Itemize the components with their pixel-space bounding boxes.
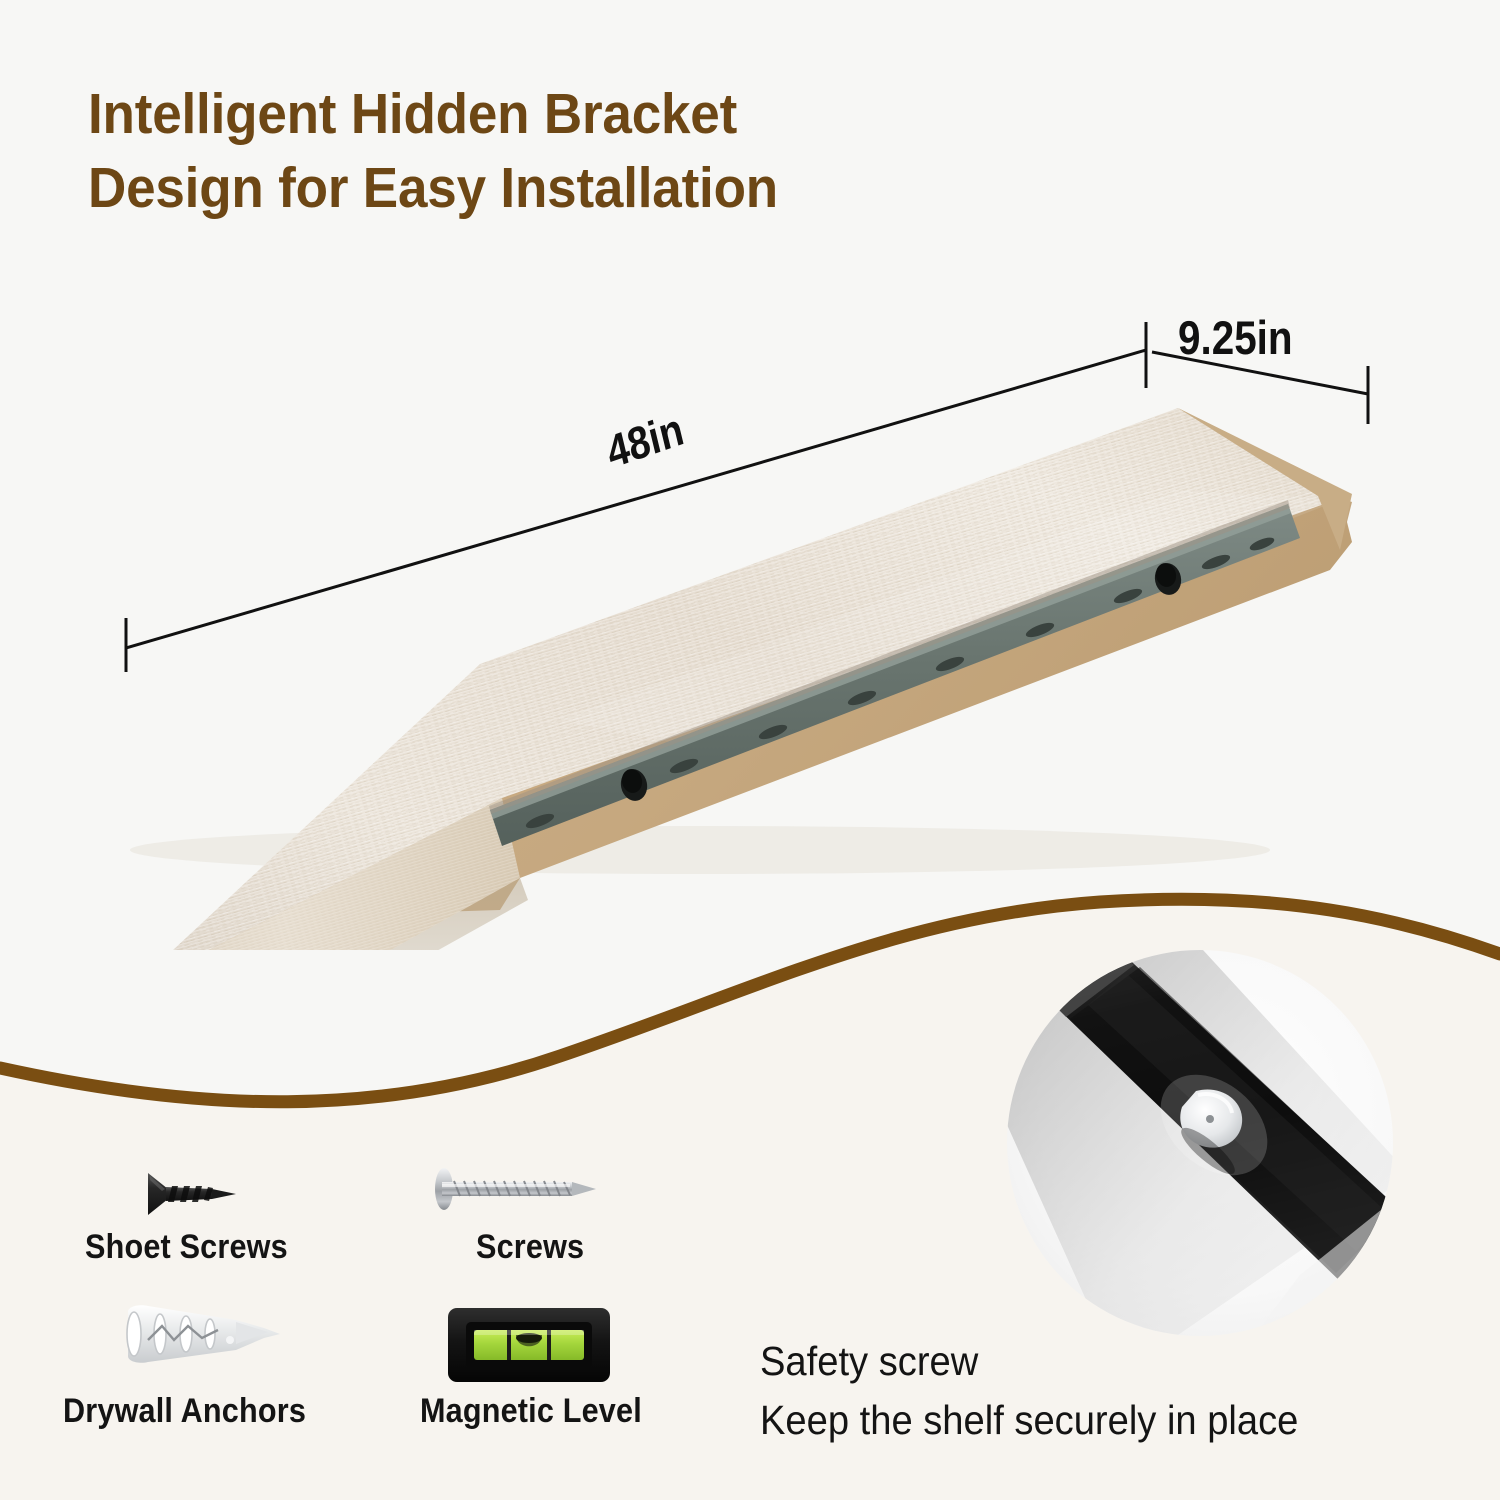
safety-caption-title: Safety screw (760, 1338, 978, 1384)
safety-screw-detail-inset (1000, 945, 1410, 1355)
hardware-label-shoet-screws: Shoet Screws (85, 1228, 288, 1267)
screw-point (212, 1189, 236, 1199)
hardware-label-drywall-anchors: Drywall Anchors (63, 1392, 306, 1431)
safety-screw-center (1206, 1115, 1214, 1123)
dimension-annotations (0, 0, 1500, 760)
safety-caption-subtitle: Keep the shelf securely in place (760, 1391, 1298, 1450)
dimension-label-depth: 9.25in (1178, 310, 1293, 365)
infographic-canvas: Intelligent Hidden Bracket Design for Ea… (0, 0, 1500, 1500)
anchor-nub (226, 1336, 234, 1344)
black-screw-icon (138, 1163, 248, 1225)
hardware-label-screws: Screws (476, 1228, 584, 1267)
screw-point (572, 1182, 596, 1196)
hardware-label-magnetic-level: Magnetic Level (420, 1392, 642, 1431)
safety-caption: Safety screw Keep the shelf securely in … (760, 1332, 1298, 1450)
drywall-anchor-icon (118, 1296, 290, 1372)
spirit-level-icon (446, 1300, 612, 1390)
inset-content (1000, 945, 1410, 1355)
silver-screw-icon (428, 1160, 603, 1218)
screw-highlight (442, 1184, 570, 1187)
level-vial-gloss (474, 1330, 584, 1335)
dimension-lines (126, 322, 1368, 672)
line-48 (126, 350, 1146, 648)
